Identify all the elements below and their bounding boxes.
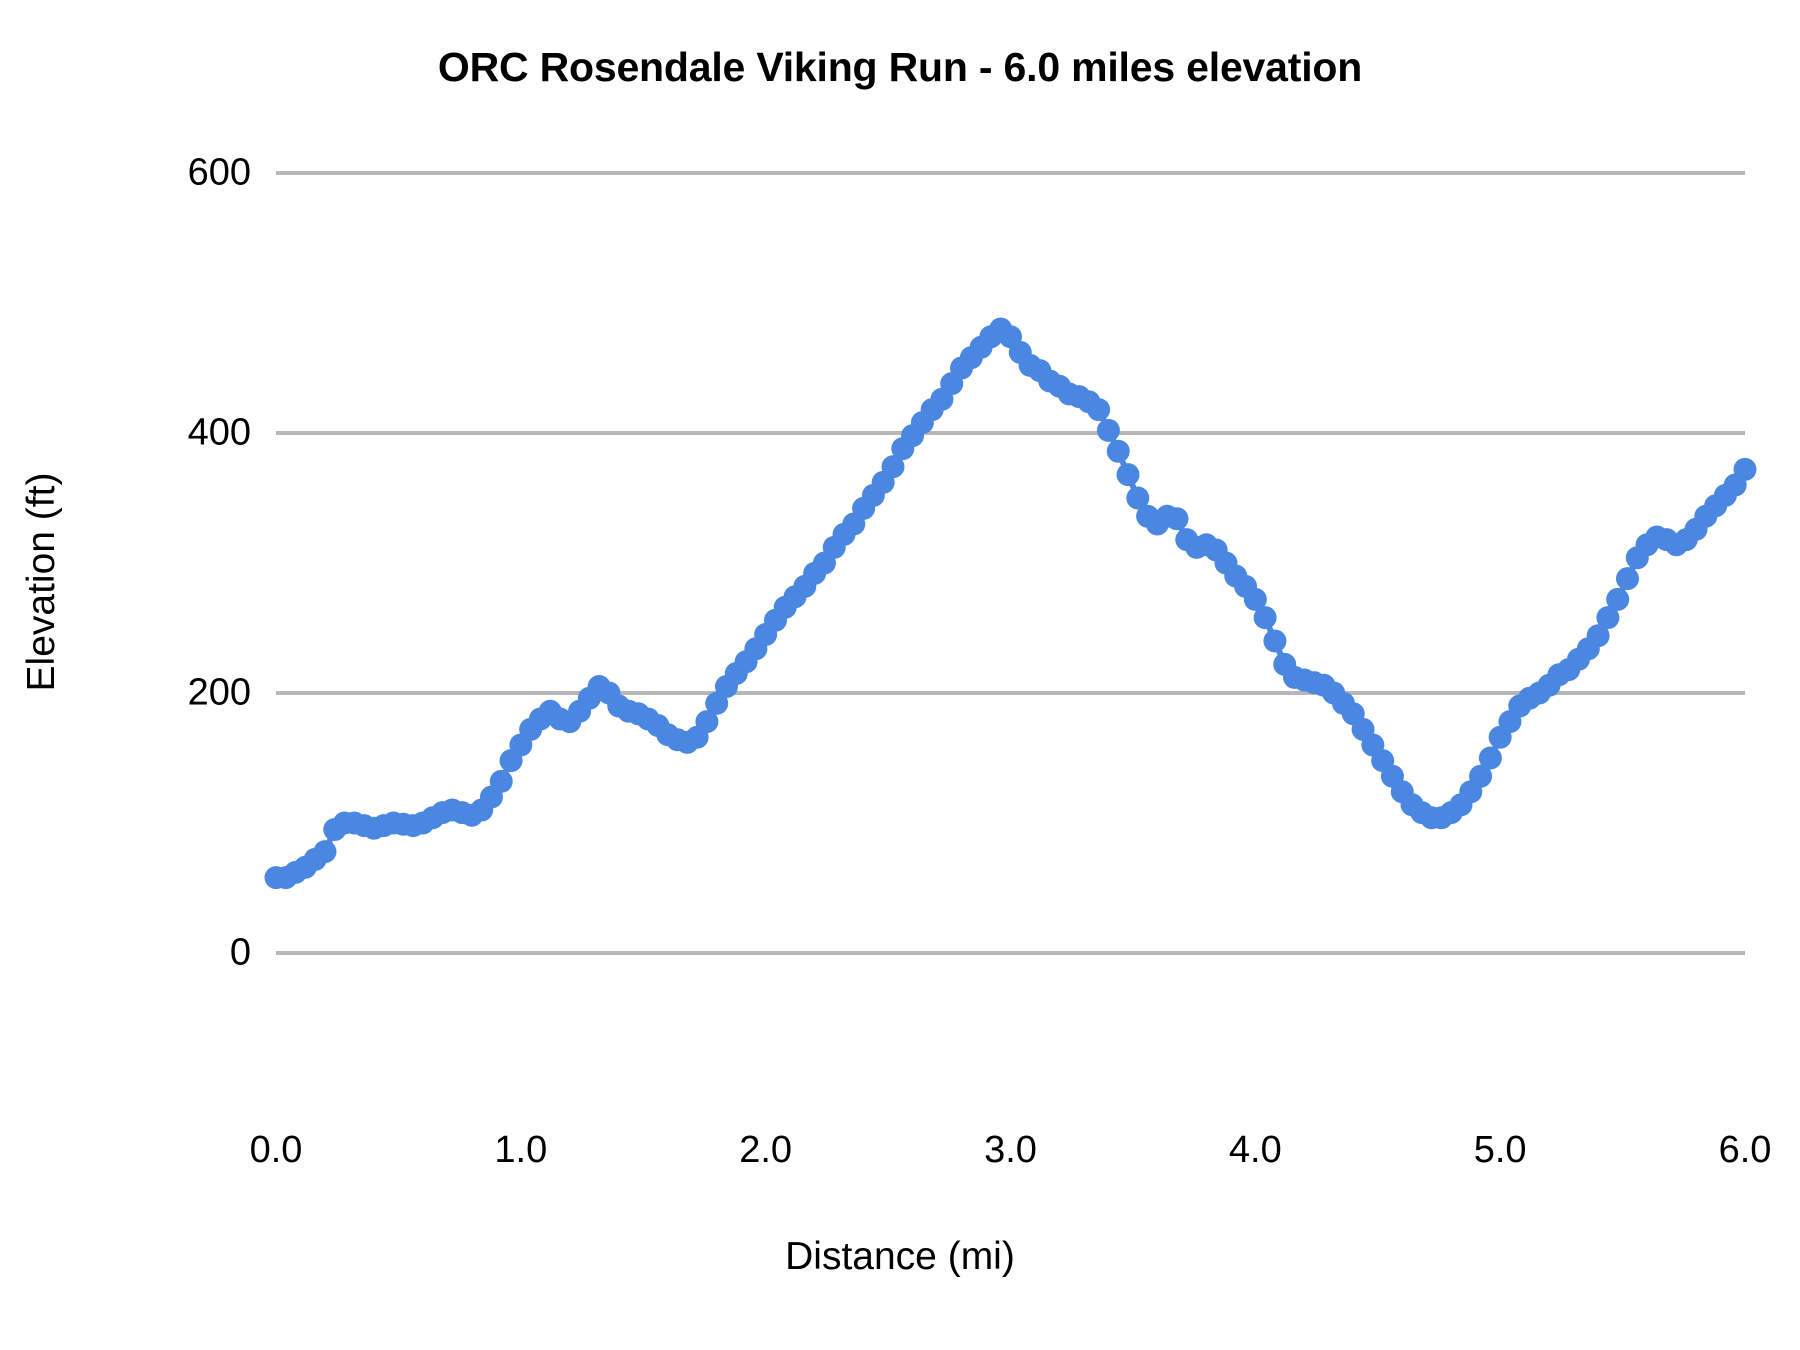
gridlines [276,173,1745,953]
y-axis-tick-label: 200 [131,672,251,715]
y-axis-tick-label: 400 [131,412,251,455]
data-point [490,770,513,793]
y-axis-tick-label: 600 [131,152,251,195]
data-point [1263,630,1286,653]
elevation-chart: ORC Rosendale Viking Run - 6.0 miles ele… [0,0,1800,1350]
data-point [1616,567,1639,590]
y-axis-tick-label: 0 [131,932,251,975]
series-markers [265,318,1757,890]
y-axis-title: Elevation (ft) [20,422,64,742]
data-point [1165,507,1188,530]
data-point [1087,398,1110,421]
data-point [1107,440,1130,463]
x-axis-title: Distance (mi) [0,1235,1800,1279]
x-axis-tick-label: 0.0 [206,1129,346,1172]
data-point [1254,606,1277,629]
data-point [1117,463,1140,486]
x-axis-tick-label: 6.0 [1675,1129,1800,1172]
data-point [1097,419,1120,442]
data-point [1606,588,1629,611]
data-point [1479,747,1502,770]
x-axis-tick-label: 3.0 [941,1129,1081,1172]
x-axis-tick-label: 1.0 [451,1129,591,1172]
x-axis-tick-label: 4.0 [1185,1129,1325,1172]
x-axis-tick-label: 5.0 [1430,1129,1570,1172]
data-point [313,840,336,863]
data-point [1734,458,1757,481]
x-axis-tick-label: 2.0 [696,1129,836,1172]
